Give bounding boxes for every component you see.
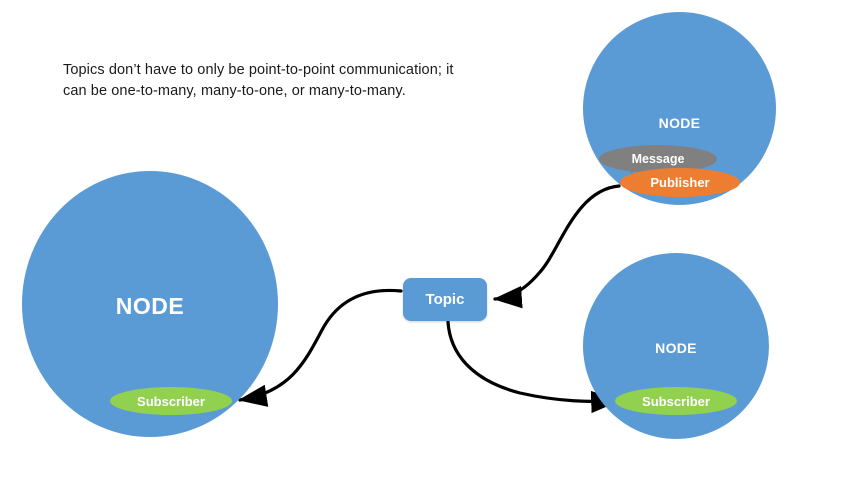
caption-line-1: Topics don’t have to only be point-to-po… bbox=[63, 60, 483, 81]
node-left[interactable]: NODE Subscriber bbox=[22, 171, 278, 437]
diagram-canvas: Topics don’t have to only be point-to-po… bbox=[0, 0, 854, 480]
publisher-label: Publisher bbox=[650, 175, 709, 190]
message-label: Message bbox=[632, 152, 685, 166]
node-top-right[interactable]: NODE Message Publisher bbox=[583, 12, 776, 205]
caption-line-2: can be one-to-many, many-to-one, or many… bbox=[63, 81, 483, 102]
node-left-label: NODE bbox=[22, 293, 278, 320]
subscriber-bottom-right[interactable]: Subscriber bbox=[615, 387, 737, 415]
node-bottom-right[interactable]: NODE Subscriber bbox=[583, 253, 769, 439]
node-bottom-right-label: NODE bbox=[583, 340, 769, 356]
caption-text: Topics don’t have to only be point-to-po… bbox=[63, 60, 483, 102]
topic-box[interactable]: Topic bbox=[403, 278, 487, 321]
subscriber-bottom-right-label: Subscriber bbox=[642, 394, 710, 409]
edge-publisher-to-topic bbox=[495, 186, 619, 299]
node-top-right-label: NODE bbox=[583, 115, 776, 131]
subscriber-left[interactable]: Subscriber bbox=[110, 387, 232, 415]
subscriber-left-label: Subscriber bbox=[137, 394, 205, 409]
topic-label: Topic bbox=[426, 291, 465, 308]
publisher[interactable]: Publisher bbox=[620, 168, 740, 197]
